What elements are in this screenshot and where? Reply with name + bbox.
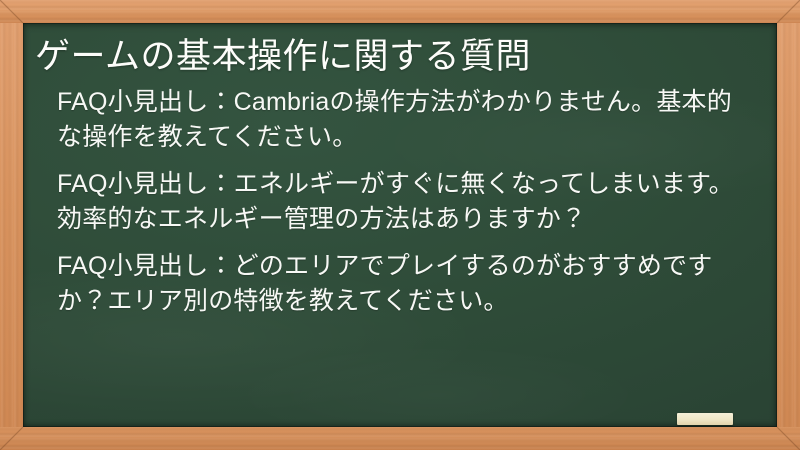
frame-rail-bottom (0, 427, 800, 450)
page-title: ゲームの基本操作に関する質問 (35, 35, 757, 79)
chalkboard-surface: ゲームの基本操作に関する質問 FAQ小見出し：Cambriaの操作方法がわかりま… (23, 23, 777, 427)
faq-question-item: FAQ小見出し：どのエリアでプレイするのがおすすめですか？エリア別の特徴を教えて… (57, 249, 753, 320)
faq-question-list: FAQ小見出し：Cambriaの操作方法がわかりません。基本的な操作を教えてくだ… (35, 85, 757, 320)
board-content: ゲームの基本操作に関する質問 FAQ小見出し：Cambriaの操作方法がわかりま… (23, 23, 777, 320)
faq-question-item: FAQ小見出し：Cambriaの操作方法がわかりません。基本的な操作を教えてくだ… (57, 85, 753, 156)
faq-question-item: FAQ小見出し：エネルギーがすぐに無くなってしまいます。効率的なエネルギー管理の… (57, 167, 753, 238)
chalkboard-slide: ゲームの基本操作に関する質問 FAQ小見出し：Cambriaの操作方法がわかりま… (0, 0, 800, 450)
frame-rail-top (0, 0, 800, 23)
chalk-stick-icon (677, 413, 733, 425)
